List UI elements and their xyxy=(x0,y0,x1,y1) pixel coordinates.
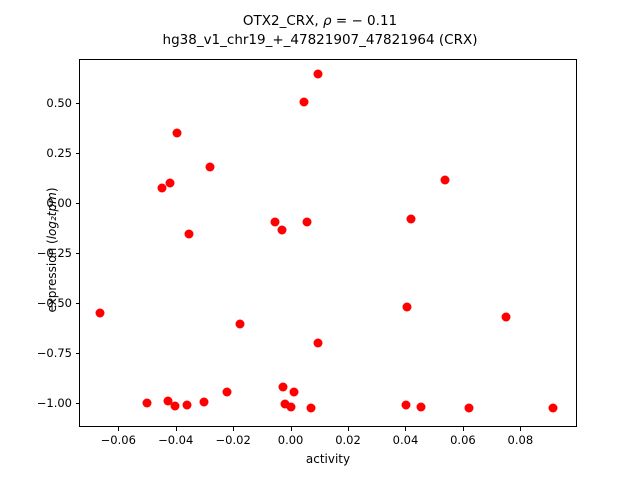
x-tick-label: 0.04 xyxy=(393,433,419,447)
y-axis-label-units: log₂tpm xyxy=(45,192,59,239)
y-tick xyxy=(76,153,80,154)
data-point xyxy=(299,97,308,106)
data-point xyxy=(407,215,416,224)
x-tick-label: −0.02 xyxy=(216,433,251,447)
x-tick xyxy=(405,427,406,431)
data-point xyxy=(314,339,323,348)
y-axis-tick-labels: 0.500.250.00−0.25−0.50−0.75−1.00 xyxy=(0,0,72,480)
x-tick xyxy=(233,427,234,431)
y-axis-label-suffix: ) xyxy=(45,187,59,192)
data-point xyxy=(403,302,412,311)
x-tick-label: 0.06 xyxy=(450,433,476,447)
y-tick-label: 0.00 xyxy=(0,196,72,210)
data-point xyxy=(287,403,296,412)
data-point xyxy=(96,309,105,318)
data-point xyxy=(166,179,175,188)
data-point xyxy=(157,184,166,193)
x-tick xyxy=(176,427,177,431)
x-tick xyxy=(520,427,521,431)
x-tick-label: 0.02 xyxy=(335,433,361,447)
chart-title: OTX2_CRX, ρ = − 0.11 hg38_v1_chr19_+_478… xyxy=(0,12,640,50)
y-tick-label: −1.00 xyxy=(0,396,72,410)
chart-title-line1: OTX2_CRX, ρ = − 0.11 xyxy=(0,12,640,31)
data-point xyxy=(173,128,182,137)
data-point xyxy=(502,312,511,321)
y-tick xyxy=(76,303,80,304)
data-point xyxy=(549,404,558,413)
chart-title-line2: hg38_v1_chr19_+_47821907_47821964 (CRX) xyxy=(0,31,640,50)
y-tick xyxy=(76,103,80,104)
y-tick-label: −0.50 xyxy=(0,296,72,310)
x-tick-label: −0.04 xyxy=(158,433,193,447)
data-point xyxy=(306,404,315,413)
plot-axes-frame xyxy=(79,59,577,427)
data-point xyxy=(271,218,280,227)
x-axis-label: activity xyxy=(79,452,577,466)
y-tick xyxy=(76,203,80,204)
x-tick-label: 0.08 xyxy=(508,433,534,447)
x-tick-label: −0.06 xyxy=(101,433,136,447)
x-tick xyxy=(348,427,349,431)
data-point xyxy=(184,229,193,238)
title-prefix: OTX2_CRX, xyxy=(243,13,323,29)
x-tick xyxy=(463,427,464,431)
x-tick xyxy=(118,427,119,431)
plot-area xyxy=(80,60,576,426)
data-point xyxy=(313,70,322,79)
y-tick-label: 0.25 xyxy=(0,146,72,160)
data-point xyxy=(290,388,299,397)
y-tick-label: −0.75 xyxy=(0,346,72,360)
scatter-plot-figure: OTX2_CRX, ρ = − 0.11 hg38_v1_chr19_+_478… xyxy=(0,0,640,480)
title-suffix: = − 0.11 xyxy=(332,13,398,29)
x-tick xyxy=(291,427,292,431)
data-point xyxy=(302,217,311,226)
y-axis-label-prefix: expression ( xyxy=(45,239,59,312)
y-tick xyxy=(76,403,80,404)
data-point xyxy=(417,403,426,412)
y-tick-label: 0.50 xyxy=(0,96,72,110)
data-point xyxy=(440,176,449,185)
x-tick-label: 0.00 xyxy=(278,433,304,447)
data-point xyxy=(206,162,215,171)
y-tick xyxy=(76,353,80,354)
data-point xyxy=(235,320,244,329)
data-point xyxy=(171,401,180,410)
y-axis-label: expression (log₂tpm) xyxy=(45,120,59,380)
y-tick-label: −0.25 xyxy=(0,246,72,260)
y-tick xyxy=(76,253,80,254)
rho-symbol: ρ xyxy=(323,13,332,29)
data-point xyxy=(465,403,474,412)
data-point xyxy=(199,397,208,406)
data-point xyxy=(277,226,286,235)
data-point xyxy=(222,387,231,396)
data-point xyxy=(143,399,152,408)
data-point xyxy=(278,382,287,391)
data-point xyxy=(401,400,410,409)
data-point xyxy=(182,401,191,410)
